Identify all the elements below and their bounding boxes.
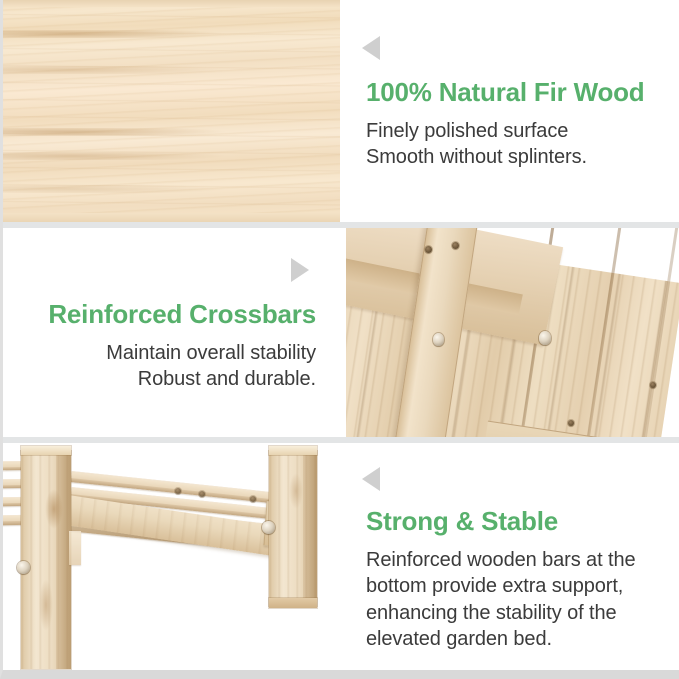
smooth-fir-board-texture xyxy=(3,0,340,222)
panel-image-strong-and-stable xyxy=(3,443,340,670)
screw-icon xyxy=(175,488,181,494)
planter-box-side-with-crossbar xyxy=(346,228,679,437)
screw-icon xyxy=(199,491,205,497)
panel-image-natural-fir-wood xyxy=(3,0,340,222)
body-line-reinforced-crossbars-1: Maintain overall stability xyxy=(16,340,316,366)
panel-text-reinforced-crossbars: Reinforced Crossbars Maintain overall st… xyxy=(3,228,340,437)
headline-reinforced-crossbars: Reinforced Crossbars xyxy=(16,300,316,330)
headline-natural-fir-wood: 100% Natural Fir Wood xyxy=(366,78,645,108)
screw-icon xyxy=(452,242,459,249)
arrow-left-icon xyxy=(362,36,380,60)
body-line-natural-fir-wood-2: Smooth without splinters. xyxy=(366,144,587,170)
body-line-strong-and-stable-2: bottom provide extra support, xyxy=(366,573,636,599)
screw-icon xyxy=(250,496,256,502)
leg-left xyxy=(21,451,71,669)
body-line-natural-fir-wood-1: Finely polished surface xyxy=(366,118,587,144)
leg-right-foot xyxy=(269,598,317,608)
screw-icon xyxy=(425,246,432,253)
screw-icon xyxy=(568,420,574,426)
leg-right-top-face xyxy=(269,446,317,455)
arrow-right-icon xyxy=(291,258,309,282)
leg-left-top-face xyxy=(21,446,71,455)
screw-icon xyxy=(650,382,656,388)
screw-icon xyxy=(17,561,30,574)
headline-strong-and-stable: Strong & Stable xyxy=(366,507,558,537)
lower-shelf-legs-and-support-beam xyxy=(3,443,340,670)
panel-image-reinforced-crossbars xyxy=(346,228,679,437)
screw-icon xyxy=(433,333,444,346)
body-line-strong-and-stable-1: Reinforced wooden bars at the xyxy=(366,547,636,573)
body-line-strong-and-stable-3: enhancing the stability of the xyxy=(366,600,636,626)
feature-panel-sheet: 100% Natural Fir Wood Finely polished su… xyxy=(0,0,679,679)
leg-right xyxy=(269,451,317,606)
body-line-strong-and-stable-4: elevated garden bed. xyxy=(366,626,636,652)
panel-text-natural-fir-wood: 100% Natural Fir Wood Finely polished su… xyxy=(346,0,679,222)
screw-icon xyxy=(262,521,275,534)
body-line-reinforced-crossbars-2: Robust and durable. xyxy=(16,366,316,392)
panel-text-strong-and-stable: Strong & Stable Reinforced wooden bars a… xyxy=(346,443,679,670)
arrow-left-icon xyxy=(362,467,380,491)
